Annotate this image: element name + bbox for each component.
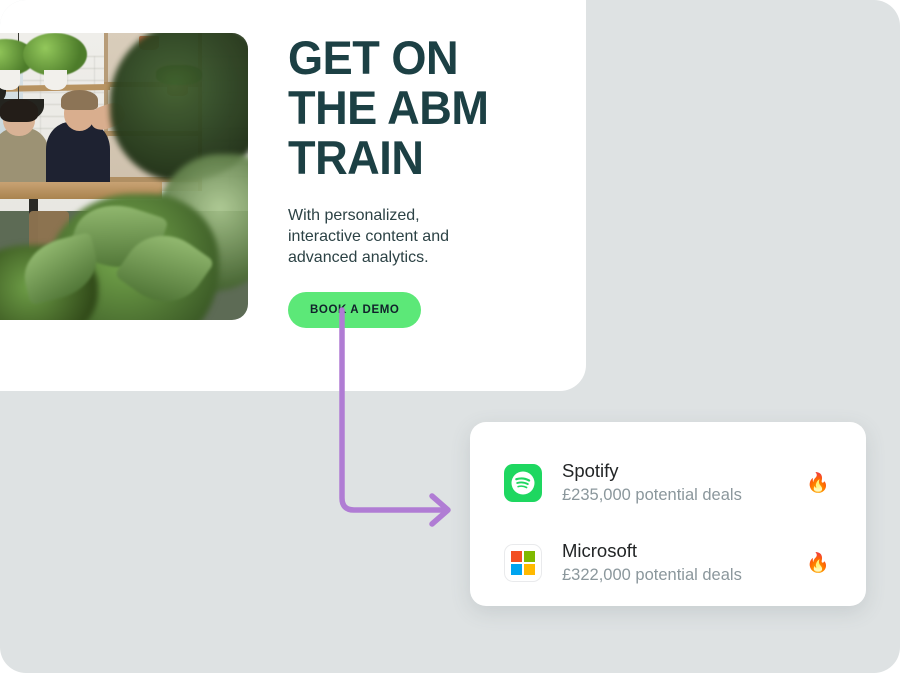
fire-emoji: 🔥 bbox=[806, 474, 830, 493]
photo-plant-pot bbox=[0, 70, 20, 90]
deal-company-name: Spotify bbox=[562, 460, 806, 482]
microsoft-square-red bbox=[511, 551, 522, 562]
deal-amount: £235,000 potential deals bbox=[562, 484, 806, 506]
page-title: GET ON THE ABM TRAIN bbox=[288, 33, 518, 183]
microsoft-square-green bbox=[524, 551, 535, 562]
photo-person-hair bbox=[61, 90, 98, 110]
deal-text: Microsoft £322,000 potential deals bbox=[562, 540, 806, 586]
microsoft-square-blue bbox=[511, 564, 522, 575]
fire-emoji: 🔥 bbox=[806, 554, 830, 573]
microsoft-square-yellow bbox=[524, 564, 535, 575]
hero-subheading: With personalized, interactive content a… bbox=[288, 205, 528, 268]
deal-text: Spotify £235,000 potential deals bbox=[562, 460, 806, 506]
microsoft-logo-grid bbox=[511, 551, 535, 575]
hero-copy: GET ON THE ABM TRAIN With personalized, … bbox=[288, 33, 528, 328]
list-item[interactable]: Microsoft £322,000 potential deals 🔥 bbox=[504, 532, 832, 594]
deal-amount: £322,000 potential deals bbox=[562, 564, 806, 586]
list-item[interactable]: Spotify £235,000 potential deals 🔥 bbox=[504, 452, 832, 514]
page-frame: GET ON THE ABM TRAIN With personalized, … bbox=[0, 0, 900, 673]
spotify-logo-icon bbox=[504, 464, 542, 502]
photo-person-hair bbox=[0, 99, 37, 122]
hero-photo bbox=[0, 33, 248, 320]
deal-company-name: Microsoft bbox=[562, 540, 806, 562]
deals-card: Spotify £235,000 potential deals 🔥 Micro… bbox=[470, 422, 866, 606]
book-a-demo-button[interactable]: BOOK A DEMO bbox=[288, 292, 421, 328]
microsoft-logo-icon bbox=[504, 544, 542, 582]
photo-plant-pot bbox=[44, 70, 67, 90]
